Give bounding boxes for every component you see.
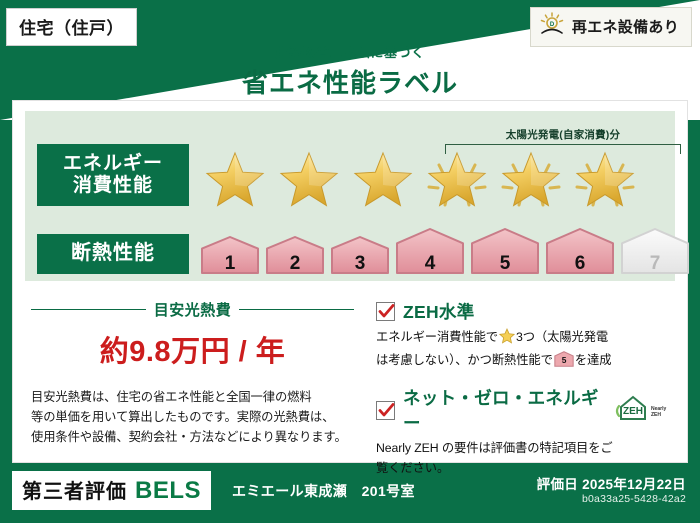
energy-cost-note-line1: 目安光熱費は、住宅の省エネ性能と全国一律の燃料: [31, 388, 354, 408]
zeh-standard-checkbox[interactable]: [376, 302, 395, 321]
net-zero-energy-header: ネット・ゼロ・エネルギー ZEH Nearly ZEH: [376, 385, 673, 435]
heading-rule-left: [31, 309, 146, 311]
insulation-level-number: 2: [264, 253, 326, 275]
bels-badge-en-label: BELS: [135, 477, 201, 505]
certification-section: ZEH水準 エネルギー消費性能で3つ（太陽光発電 は考慮しない）、かつ断熱性能で…: [368, 291, 687, 462]
energy-star-6: [569, 141, 641, 209]
energy-cost-note-line3: 使用条件や設備、契約会社・方法などにより異なります。: [31, 428, 354, 448]
insulation-performance-label: 断熱性能: [37, 234, 189, 274]
insulation-level-scale: 1 2 3 4: [199, 227, 691, 280]
inline-house-badge-icon: 5: [554, 351, 574, 374]
label-title-main: 省エネ性能ラベル: [0, 63, 700, 100]
insulation-level-1: 1: [199, 235, 261, 280]
zeh-standard-title: ZEH水準: [403, 299, 475, 324]
insulation-level-6: 6: [544, 227, 616, 280]
zeh-standard-body-part2: は考慮しない）、かつ断熱性能で: [376, 353, 553, 367]
energy-star-3: [347, 141, 419, 209]
building-name: エミエール東成瀬 201号室: [232, 481, 415, 501]
evaluation-id: b0a33a25-5428-42a2: [582, 493, 686, 505]
heading-rule-right: [239, 309, 354, 311]
zeh-standard-body-part3: を達成: [575, 353, 612, 367]
insulation-level-7: 7: [619, 227, 691, 280]
insulation-performance-row: 断熱性能 1 2 3: [37, 227, 667, 280]
net-zero-energy-body-line1: Nearly ZEH の要件は評価書の特記項目をご: [376, 439, 673, 459]
insulation-level-2: 2: [264, 235, 326, 280]
insulation-level-number: 4: [394, 253, 466, 275]
insulation-level-3: 3: [329, 235, 391, 280]
insulation-level-number: 1: [199, 253, 261, 275]
inline-house-badge-number: 5: [562, 355, 567, 365]
label-main-card: 太陽光発電(自家消費)分 エネルギー 消費性能: [12, 100, 688, 463]
net-zero-energy-title: ネット・ゼロ・エネルギー: [403, 385, 605, 435]
check-icon: [378, 402, 395, 419]
energy-performance-label-line1: エネルギー: [63, 153, 163, 175]
energy-cost-heading-text: 目安光熱費: [154, 299, 232, 320]
energy-performance-row: エネルギー 消費性能: [37, 141, 667, 209]
label-bottom-section: 目安光熱費 約9.8万円 / 年 目安光熱費は、住宅の省エネ性能と全国一律の燃料…: [13, 291, 687, 462]
zeh-standard-body-part1: エネルギー消費性能で: [376, 330, 498, 344]
energy-performance-label: 住宅（住戸） D 再エネ設備あり 建築物省エネ法に基づく 省エネ性能ラベル: [0, 0, 700, 523]
zeh-logo-sub2: ZEH: [651, 412, 661, 418]
energy-star-5: [495, 141, 567, 209]
housing-type-tag: 住宅（住戸）: [6, 8, 137, 46]
insulation-level-4: 4: [394, 227, 466, 280]
energy-cost-heading: 目安光熱費: [31, 299, 354, 320]
svg-text:D: D: [550, 22, 555, 28]
zeh-logo-main: ZEH: [623, 406, 643, 417]
insulation-level-number: 6: [544, 253, 616, 275]
zeh-standard-body: エネルギー消費性能で3つ（太陽光発電 は考慮しない）、かつ断熱性能で5を達成: [376, 328, 673, 373]
zeh-standard-body-star: 3つ（太陽光発電: [516, 330, 608, 344]
insulation-level-number: 7: [619, 253, 691, 275]
energy-cost-note: 目安光熱費は、住宅の省エネ性能と全国一律の燃料 等の単価を用いて算出したものです…: [31, 388, 354, 448]
renewable-energy-badge-label: 再エネ設備あり: [572, 16, 679, 37]
label-footer: 第三者評価 BELS エミエール東成瀬 201号室 評価日 2025年12月22…: [0, 463, 700, 523]
energy-performance-label-line2: 消費性能: [73, 175, 153, 197]
evaluation-date: 評価日 2025年12月22日: [537, 473, 686, 493]
zeh-house-logo-icon: ZEH Nearly ZEH: [613, 393, 673, 428]
net-zero-energy-checkbox[interactable]: [376, 401, 395, 420]
energy-star-2: [273, 141, 345, 209]
insulation-level-number: 3: [329, 253, 391, 275]
energy-cost-note-line2: 等の単価を用いて算出したものです。実際の光熱費は、: [31, 408, 354, 428]
check-icon: [378, 303, 395, 320]
insulation-level-5: 5: [469, 227, 541, 280]
inline-star-icon: [499, 328, 515, 351]
bels-certification-badge: 第三者評価 BELS: [12, 471, 211, 510]
zeh-standard-header: ZEH水準: [376, 299, 673, 324]
insulation-level-number: 5: [469, 253, 541, 275]
energy-cost-value: 約9.8万円 / 年: [31, 328, 354, 370]
energy-star-4: [421, 141, 493, 209]
energy-star-1: [199, 141, 271, 209]
solar-sun-icon: D: [539, 12, 565, 41]
label-title-block: 建築物省エネ法に基づく 省エネ性能ラベル: [0, 42, 700, 100]
performance-ratings-zone: 太陽光発電(自家消費)分 エネルギー 消費性能: [25, 111, 675, 281]
energy-star-rating: [199, 141, 641, 209]
bels-badge-jp-label: 第三者評価: [22, 475, 127, 504]
energy-cost-section: 目安光熱費 約9.8万円 / 年 目安光熱費は、住宅の省エネ性能と全国一律の燃料…: [13, 291, 368, 462]
energy-performance-label: エネルギー 消費性能: [37, 144, 189, 206]
solar-annotation-text: 太陽光発電(自家消費)分: [445, 127, 681, 142]
renewable-energy-badge: D 再エネ設備あり: [530, 7, 692, 47]
zeh-standard-item: ZEH水準 エネルギー消費性能で3つ（太陽光発電 は考慮しない）、かつ断熱性能で…: [376, 299, 673, 373]
